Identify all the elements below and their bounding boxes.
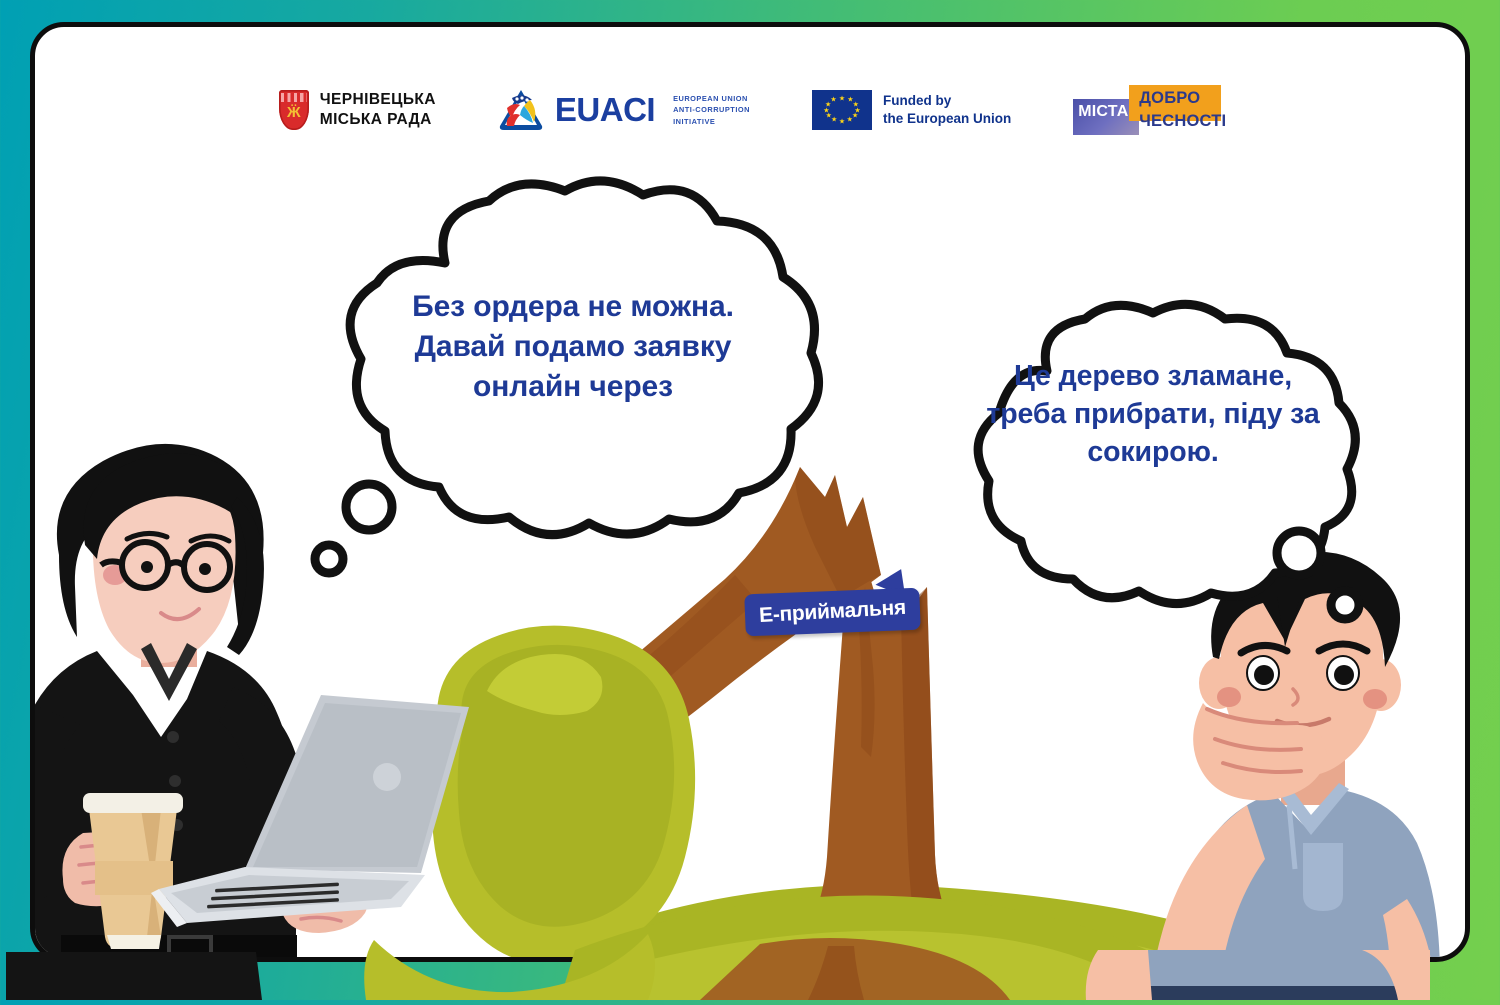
thought-bubble-right-tail-circles	[1269, 521, 1449, 671]
thought-bubble-left-tail-circles	[299, 469, 499, 609]
e-pryimalnia-badge[interactable]: Е-приймальня	[744, 588, 920, 637]
poster-card: Ӝ ЧЕРНІВЕЦЬКА МІСЬКА РАДА EUACI	[30, 22, 1470, 962]
thought-bubble-left: Без ордера не можна. Давай подамо заявку…	[313, 187, 833, 537]
thought-bubble-right: Це дерево зламане, треба прибрати, піду …	[943, 309, 1363, 609]
bush	[431, 626, 695, 957]
thought-bubble-left-text: Без ордера не можна. Давай подамо заявку…	[373, 287, 773, 408]
thought-bubble-right-text: Це дерево зламане, треба прибрати, піду …	[985, 357, 1321, 472]
poster-canvas: Ӝ ЧЕРНІВЕЦЬКА МІСЬКА РАДА EUACI	[0, 0, 1500, 1000]
